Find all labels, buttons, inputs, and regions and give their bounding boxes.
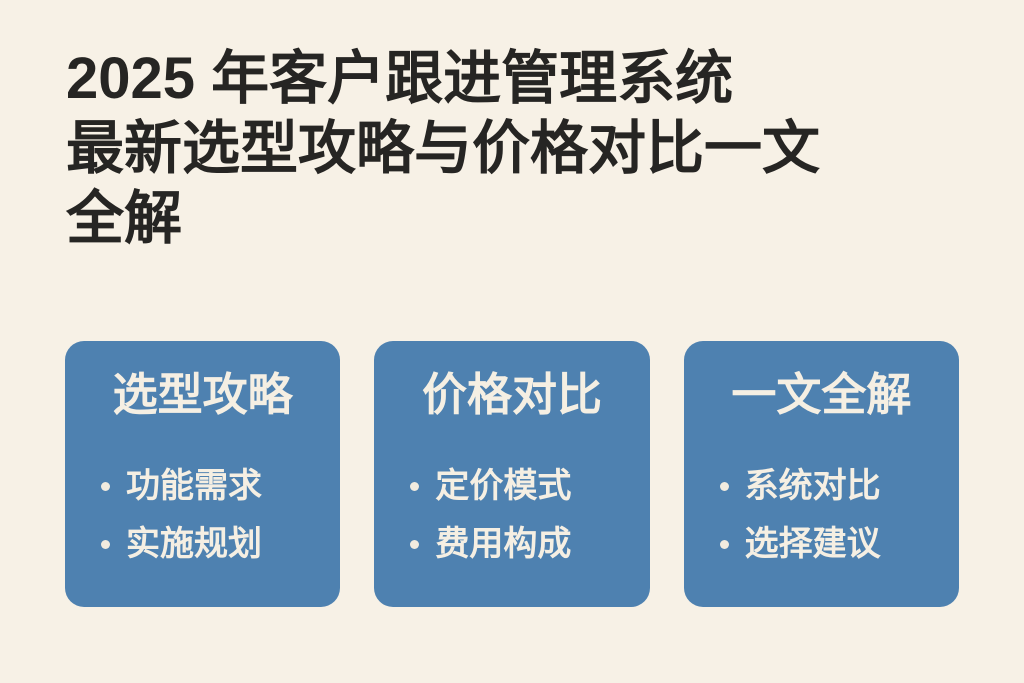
list-item: 费用构成: [410, 515, 571, 573]
bullet-dot-icon: [101, 482, 110, 491]
bullet-dot-icon: [101, 540, 110, 549]
bullet-label: 实施规划: [126, 524, 262, 564]
card-title: 选型攻略: [113, 369, 293, 421]
page-title: 2025 年客户跟进管理系统 最新选型攻略与价格对比一文 全解: [66, 44, 976, 254]
page-title-line-1: 2025 年客户跟进管理系统: [66, 44, 976, 114]
bullet-label: 选择建议: [745, 524, 881, 564]
feature-card-full-explanation[interactable]: 一文全解 系统对比 选择建议: [684, 341, 959, 607]
bullet-label: 功能需求: [126, 466, 262, 506]
card-bullet-list: 定价模式 费用构成: [410, 457, 571, 573]
list-item: 选择建议: [720, 515, 881, 573]
poster-canvas: 2025 年客户跟进管理系统 最新选型攻略与价格对比一文 全解 选型攻略 功能需…: [0, 0, 1024, 683]
list-item: 系统对比: [720, 457, 881, 515]
card-bullet-list: 系统对比 选择建议: [720, 457, 881, 573]
list-item: 功能需求: [101, 457, 262, 515]
feature-card-price-comparison[interactable]: 价格对比 定价模式 费用构成: [374, 341, 649, 607]
bullet-label: 费用构成: [435, 524, 571, 564]
bullet-dot-icon: [720, 540, 729, 549]
feature-card-row: 选型攻略 功能需求 实施规划 价格对比 定价模式: [65, 341, 959, 607]
page-title-line-2: 最新选型攻略与价格对比一文: [66, 114, 976, 184]
bullet-label: 定价模式: [435, 466, 571, 506]
feature-card-selection-guide[interactable]: 选型攻略 功能需求 实施规划: [65, 341, 340, 607]
bullet-dot-icon: [410, 482, 419, 491]
card-title: 一文全解: [731, 369, 911, 421]
bullet-label: 系统对比: [745, 466, 881, 506]
page-title-line-3: 全解: [66, 184, 976, 254]
card-bullet-list: 功能需求 实施规划: [101, 457, 262, 573]
bullet-dot-icon: [410, 540, 419, 549]
list-item: 实施规划: [101, 515, 262, 573]
card-title: 价格对比: [422, 369, 602, 421]
list-item: 定价模式: [410, 457, 571, 515]
bullet-dot-icon: [720, 482, 729, 491]
